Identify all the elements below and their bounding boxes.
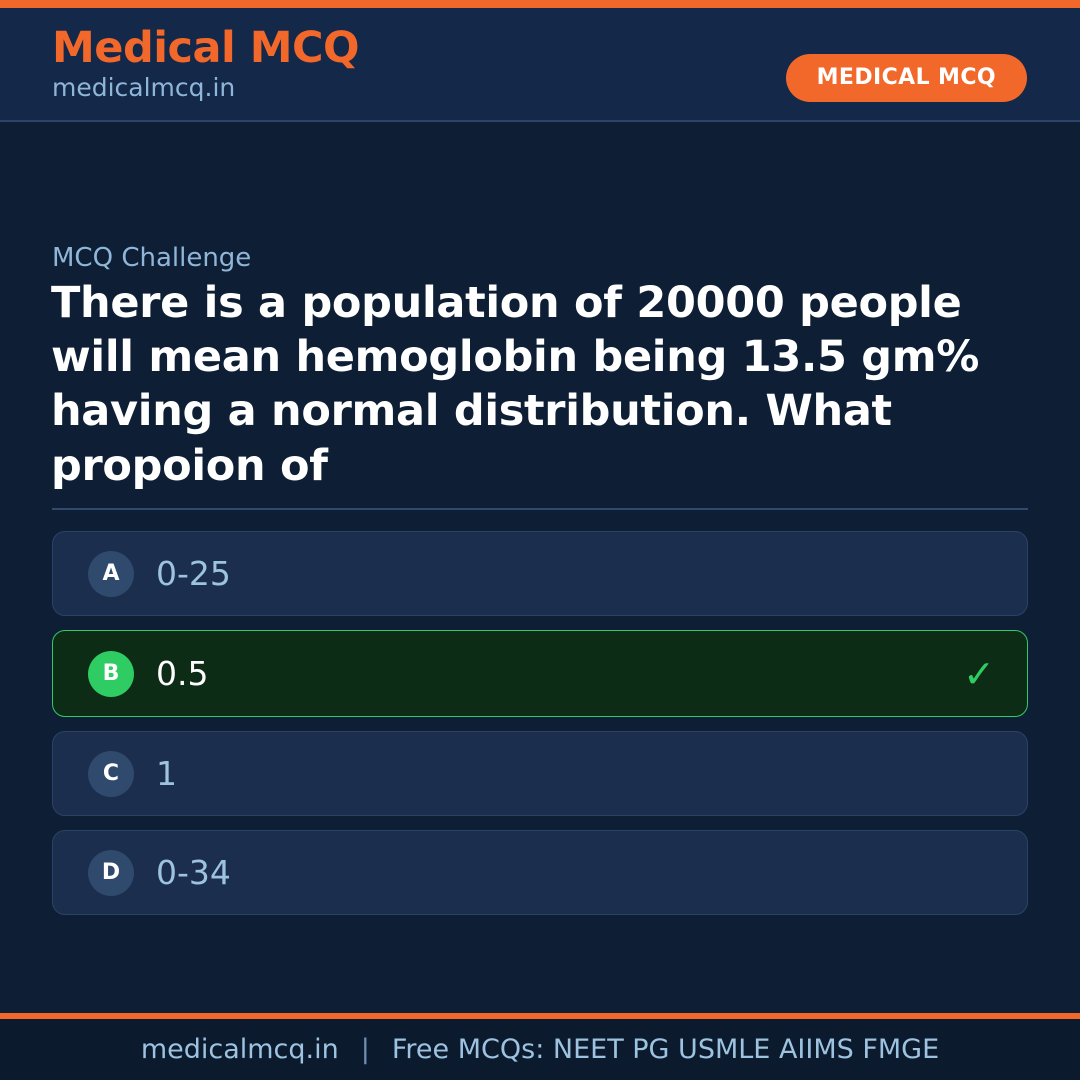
option-letter-c: C [88, 751, 134, 797]
option-row-b[interactable]: B 0.5 ✓ [52, 630, 1028, 717]
header-badge: MEDICAL MCQ [786, 54, 1027, 102]
option-row-a[interactable]: A 0-25 ✓ [52, 531, 1028, 616]
page-footer: medicalmcq.in | Free MCQs: NEET PG USMLE… [0, 1019, 1080, 1080]
option-text-a: 0-25 [156, 557, 231, 590]
footer-separator: | [361, 1034, 370, 1065]
check-icon: ✓ [963, 655, 995, 693]
option-letter-b: B [88, 651, 134, 697]
top-accent-bar [0, 0, 1080, 8]
options-list: A 0-25 ✓ B 0.5 ✓ C 1 ✓ D 0-34 ✓ [52, 531, 1028, 929]
eyebrow-label: MCQ Challenge [52, 243, 251, 273]
option-text-c: 1 [156, 757, 177, 790]
option-text-d: 0-34 [156, 856, 231, 889]
brand: Medical MCQ medicalmcq.in [52, 25, 359, 103]
option-letter-d: D [88, 850, 134, 896]
option-text-b: 0.5 [156, 657, 208, 690]
footer-site: medicalmcq.in [141, 1034, 339, 1065]
option-row-c[interactable]: C 1 ✓ [52, 731, 1028, 816]
page-header: Medical MCQ medicalmcq.in MEDICAL MCQ [0, 8, 1080, 122]
brand-title: Medical MCQ [52, 25, 359, 71]
option-letter-a: A [88, 551, 134, 597]
option-row-d[interactable]: D 0-34 ✓ [52, 830, 1028, 915]
question-divider [52, 508, 1028, 510]
brand-subtitle: medicalmcq.in [52, 74, 359, 103]
footer-links: Free MCQs: NEET PG USMLE AIIMS FMGE [392, 1034, 939, 1065]
question-text: There is a population of 20000 people wi… [51, 276, 1036, 493]
